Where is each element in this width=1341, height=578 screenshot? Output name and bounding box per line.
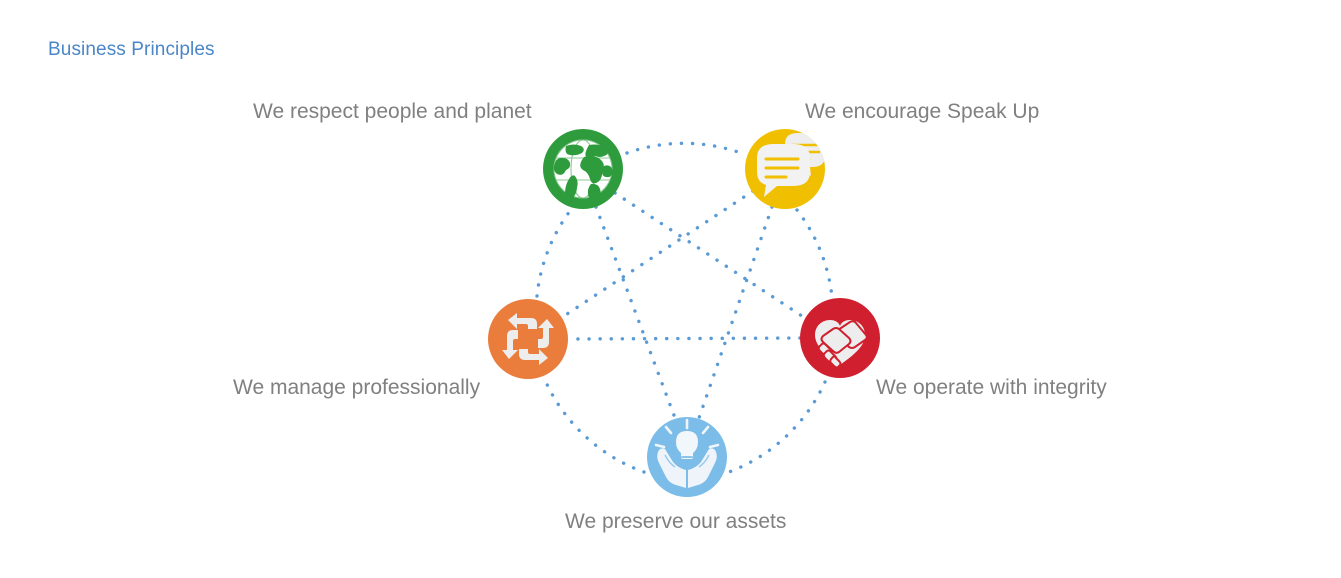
node-respect-people-and-planet[interactable]: [543, 129, 623, 209]
node-label-assets: We preserve our assets: [565, 510, 786, 534]
node-label-respect: We respect people and planet: [253, 100, 532, 124]
business-principles-diagram: [0, 0, 1341, 578]
connector-star: [561, 191, 808, 418]
node-we-preserve-our-assets[interactable]: [647, 417, 727, 497]
node-we-manage-professionally[interactable]: [488, 299, 568, 379]
cycle-arrows-icon: [502, 313, 554, 365]
node-label-speak-up: We encourage Speak Up: [805, 100, 1039, 124]
slide-canvas: Business Principles: [0, 0, 1341, 578]
node-label-integrity: We operate with integrity: [876, 376, 1107, 400]
node-label-professional: We manage professionally: [233, 376, 480, 400]
node-we-operate-with-integrity[interactable]: [800, 298, 880, 378]
node-we-encourage-speak-up[interactable]: [745, 129, 825, 209]
